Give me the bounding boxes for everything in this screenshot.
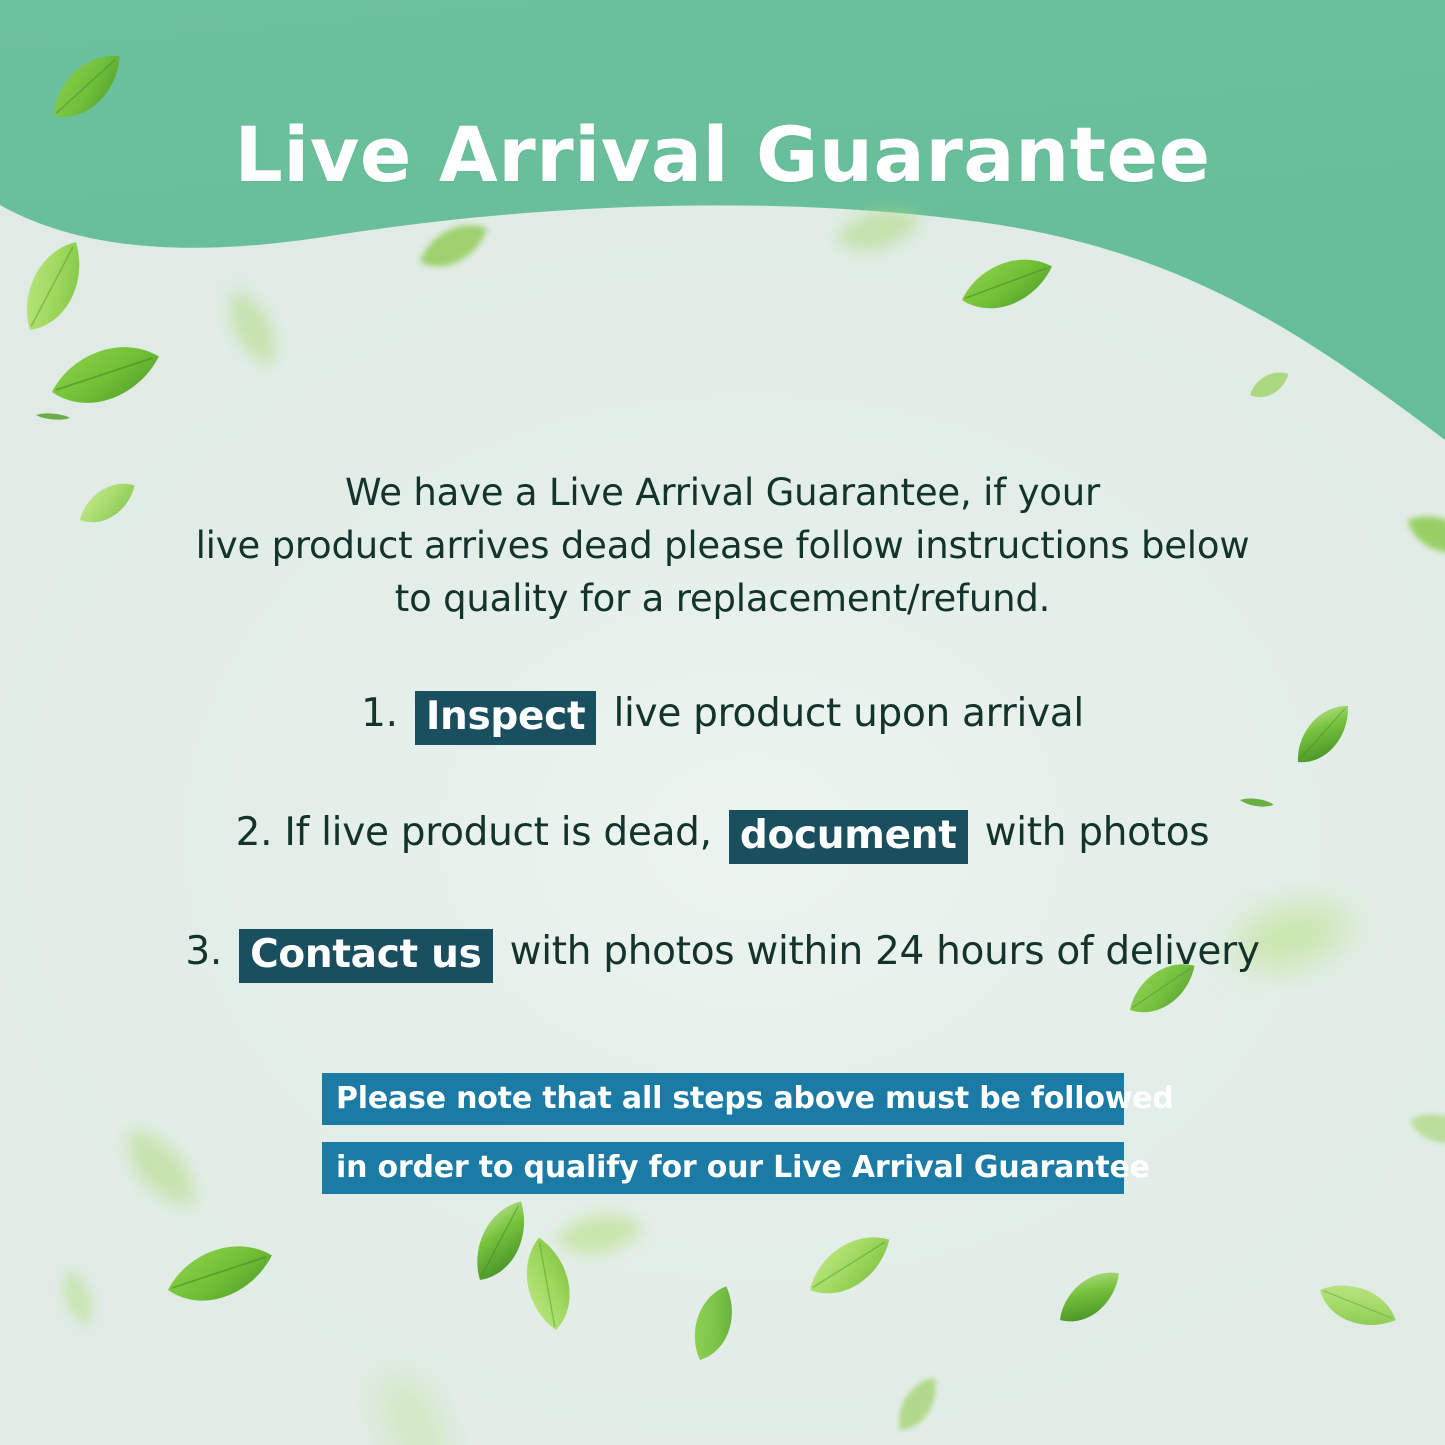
- disclaimer-note: Please note that all steps above must be…: [322, 1073, 1124, 1194]
- step-2-text-after: with photos: [985, 810, 1210, 855]
- note-line-1: Please note that all steps above must be…: [322, 1073, 1124, 1125]
- steps-list: 1. Inspect live product upon arrival 2. …: [0, 686, 1445, 980]
- intro-paragraph: We have a Live Arrival Guarantee, if you…: [0, 466, 1445, 625]
- step-3-highlight-contact-us: Contact us: [239, 929, 492, 983]
- intro-line-3: to quality for a replacement/refund.: [0, 572, 1445, 625]
- step-3: 3. Contact us with photos within 24 hour…: [0, 924, 1445, 980]
- step-3-number: 3.: [185, 929, 222, 974]
- step-1: 1. Inspect live product upon arrival: [0, 686, 1445, 742]
- step-2-text-before: If live product is dead,: [284, 810, 711, 855]
- note-line-2: in order to qualify for our Live Arrival…: [322, 1142, 1124, 1194]
- step-2: 2. If live product is dead, document wit…: [0, 805, 1445, 861]
- step-1-text-after: live product upon arrival: [613, 691, 1083, 736]
- intro-line-2: live product arrives dead please follow …: [0, 519, 1445, 572]
- step-2-number: 2.: [236, 810, 273, 855]
- step-2-highlight-document: document: [729, 810, 968, 864]
- intro-line-1: We have a Live Arrival Guarantee, if you…: [0, 466, 1445, 519]
- step-1-number: 1.: [361, 691, 398, 736]
- content-area: We have a Live Arrival Guarantee, if you…: [0, 0, 1445, 1445]
- step-1-highlight-inspect: Inspect: [415, 691, 597, 745]
- step-3-text-after: with photos within 24 hours of delivery: [510, 929, 1260, 974]
- live-arrival-guarantee-poster: Live Arrival Guarantee: [0, 0, 1445, 1445]
